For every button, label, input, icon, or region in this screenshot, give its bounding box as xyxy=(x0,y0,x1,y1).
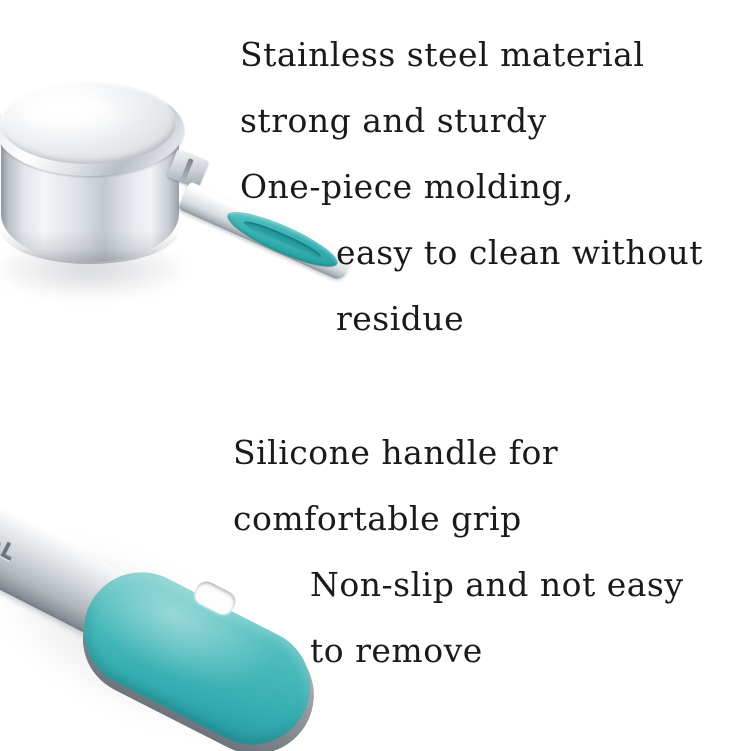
copy-line: easy to clean without xyxy=(240,220,703,286)
copy-line: to remove xyxy=(233,618,684,684)
copy-line: strong and sturdy xyxy=(240,88,703,154)
copy-line: Silicone handle for xyxy=(233,420,684,486)
cup-top-face xyxy=(0,81,176,164)
product-feature-image: p 125mL Stainless steel material strong … xyxy=(0,0,750,751)
cup-gloss-highlight xyxy=(22,97,126,133)
copy-block-material: Stainless steel material strong and stur… xyxy=(240,22,703,352)
copy-line: Non-slip and not easy xyxy=(233,552,684,618)
copy-line: comfortable grip xyxy=(233,486,684,552)
copy-block-handle: Silicone handle for comfortable grip Non… xyxy=(233,420,684,684)
copy-line: Stainless steel material xyxy=(240,22,703,88)
copy-line: One-piece molding, xyxy=(240,154,703,220)
copy-line: residue xyxy=(240,286,703,352)
